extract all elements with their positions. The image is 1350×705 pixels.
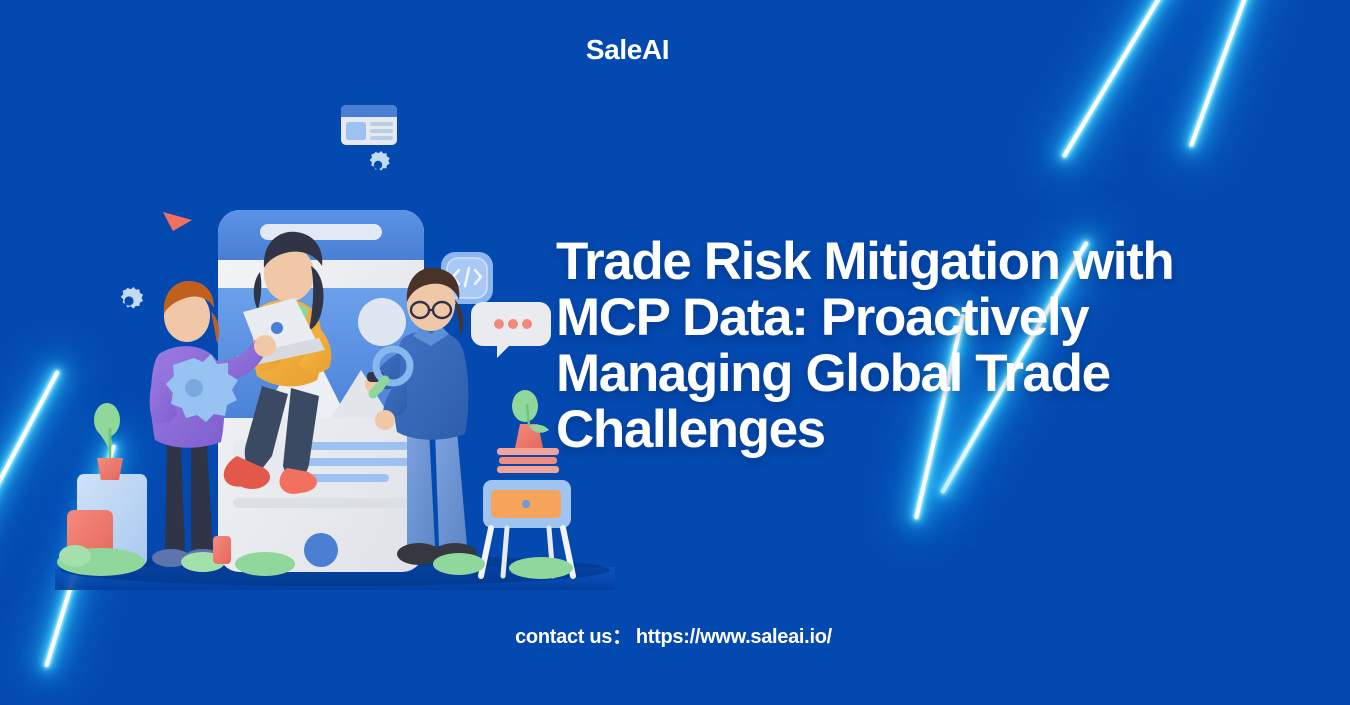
neon-stroke — [1062, 0, 1220, 158]
chat-bubble-icon — [471, 302, 551, 358]
contact-label: contact us： — [515, 626, 632, 648]
potted-plant-left — [94, 403, 123, 480]
home-button — [304, 533, 338, 567]
bar-blocks — [57, 474, 147, 576]
neon-stroke — [0, 370, 60, 637]
window-card-icon — [341, 105, 397, 145]
promo-banner: SaleAI — [0, 0, 1350, 705]
headline-line-1: Trade Risk Mitigation with — [556, 234, 1296, 290]
paper-plane-icon — [163, 212, 192, 231]
contact-url[interactable]: https://www.saleai.io/ — [636, 626, 832, 648]
headline-line-4: Challenges — [556, 402, 1296, 458]
page-title: Trade Risk Mitigation with MCP Data: Pro… — [556, 234, 1296, 458]
gear-icon-small-left — [121, 287, 143, 309]
brand-logo-text: SaleAI — [586, 34, 669, 66]
neon-chevron-top-right — [1020, 0, 1350, 220]
hero-illustration — [55, 70, 635, 590]
headline-line-2: MCP Data: Proactively — [556, 290, 1296, 346]
neon-stroke — [1189, 0, 1292, 147]
gear-icon-small-top — [370, 151, 390, 171]
headline-block: Trade Risk Mitigation with MCP Data: Pro… — [556, 234, 1296, 458]
contact-line: contact us：https://www.saleai.io/ — [0, 620, 1350, 649]
headline-line-3: Managing Global Trade — [556, 346, 1296, 402]
brand-logo[interactable]: SaleAI — [0, 34, 1350, 66]
